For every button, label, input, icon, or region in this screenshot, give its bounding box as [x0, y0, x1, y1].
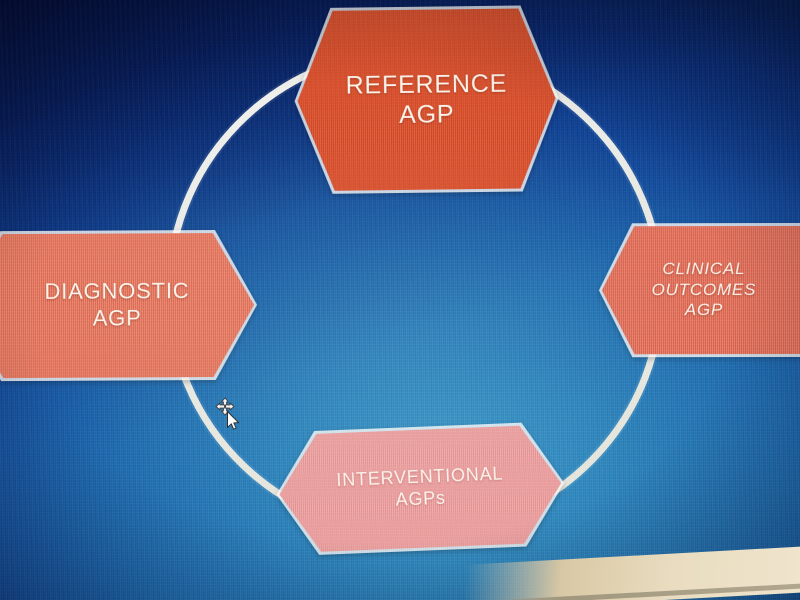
node-clinical-outcomes-agp-line3: AGP — [652, 300, 757, 321]
node-diagnostic-agp-line2: AGP — [45, 305, 190, 333]
node-interventional-agps[interactable]: INTERVENTIONAL AGPs — [277, 424, 564, 553]
node-reference-agp-line2: AGP — [346, 99, 508, 131]
node-diagnostic-agp-line1: DIAGNOSTIC — [44, 278, 189, 306]
node-interventional-agps-label: INTERVENTIONAL AGPs — [330, 463, 511, 514]
node-clinical-outcomes-agp-line2: OUTCOMES — [652, 280, 757, 301]
node-clinical-outcomes-agp-line1: CLINICAL — [652, 259, 757, 280]
node-clinical-outcomes-agp-label: CLINICAL OUTCOMES AGP — [646, 259, 763, 321]
node-reference-agp-label: REFERENCE AGP — [339, 68, 513, 131]
node-reference-agp[interactable]: REFERENCE AGP — [296, 8, 556, 191]
node-reference-agp-line1: REFERENCE — [345, 68, 507, 100]
screenshot-root: REFERENCE AGP CLINICAL OUTCOMES AGP INTE… — [0, 0, 800, 600]
node-diagnostic-agp[interactable]: DIAGNOSTIC AGP — [0, 233, 254, 379]
node-clinical-outcomes-agp[interactable]: CLINICAL OUTCOMES AGP — [602, 226, 800, 354]
cycle-diagram: REFERENCE AGP CLINICAL OUTCOMES AGP INTE… — [0, 0, 800, 600]
node-diagnostic-agp-label: DIAGNOSTIC AGP — [38, 278, 195, 332]
